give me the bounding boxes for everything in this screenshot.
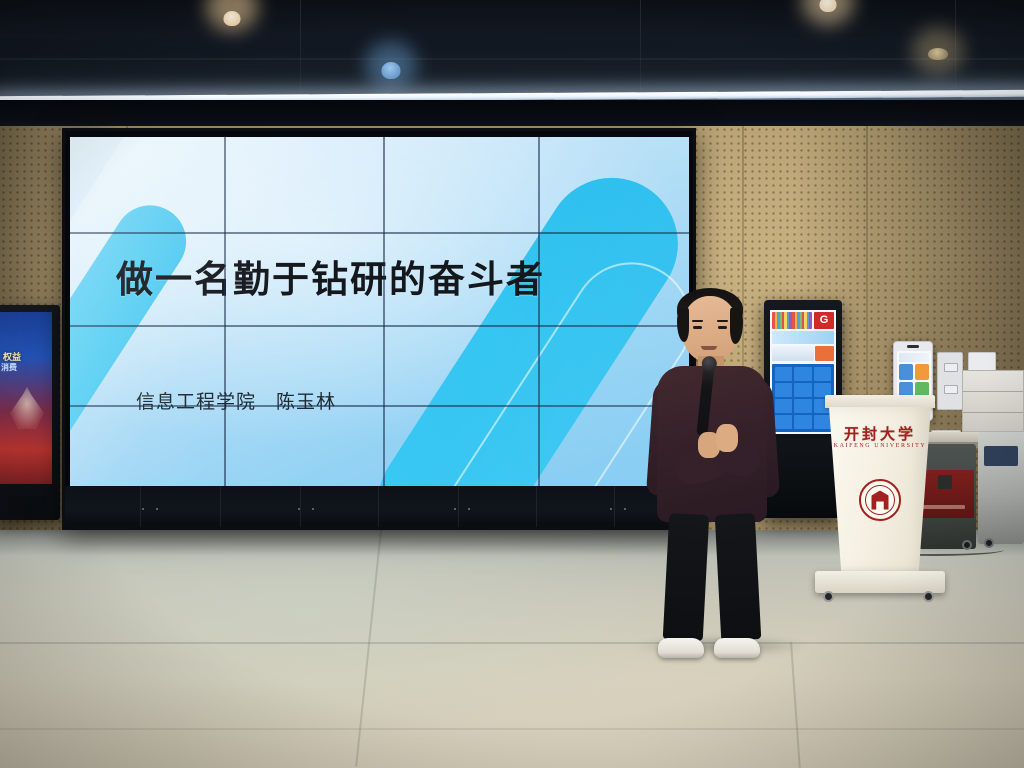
left-digital-poster[interactable]: 权益 消费 bbox=[0, 305, 60, 520]
presenter-eye-left bbox=[693, 326, 702, 329]
tablet-tile-2[interactable] bbox=[915, 364, 929, 380]
lectern[interactable]: 开封大学 KAIFENG UNIVERSITY bbox=[815, 395, 945, 610]
tablet-tile-grid[interactable] bbox=[899, 364, 929, 398]
presenter-mouth bbox=[701, 346, 717, 350]
kiosk-logo: G bbox=[814, 312, 834, 329]
kiosk-button[interactable] bbox=[794, 367, 811, 381]
ceiling bbox=[0, 0, 1024, 96]
cart-caster bbox=[962, 540, 972, 550]
cart-display bbox=[984, 446, 1018, 466]
left-poster-line2: 消费 bbox=[1, 362, 52, 373]
tablet-header-bar bbox=[899, 353, 929, 362]
presenter-hand-right bbox=[716, 424, 738, 452]
lectern-university-name-en: KAIFENG UNIVERSITY bbox=[829, 443, 931, 449]
presenter bbox=[640, 282, 790, 652]
presenter-leg-right bbox=[715, 513, 762, 641]
slide-title: 做一名勤于钻研的奋斗者 bbox=[116, 249, 636, 303]
tablet-camera-icon bbox=[907, 345, 919, 348]
kiosk-button[interactable] bbox=[794, 383, 811, 397]
presenter-brow-right bbox=[717, 320, 728, 322]
presenter-hair-left bbox=[677, 308, 689, 342]
lectern-caster-left bbox=[823, 591, 834, 602]
seal-glyph bbox=[872, 491, 889, 510]
left-poster-base bbox=[8, 496, 46, 518]
kiosk-banner-3[interactable] bbox=[815, 346, 834, 361]
presenter-eye-right bbox=[718, 326, 727, 329]
presenter-leg-left bbox=[663, 513, 710, 641]
lectern-university-name-cn: 开封大学 bbox=[829, 423, 931, 444]
presenter-brow-left bbox=[692, 320, 703, 322]
video-wall[interactable]: 做一名勤于钻研的奋斗者 信息工程学院 陈玉林 bbox=[62, 128, 696, 530]
presentation-room-photo: 权益 消费 做一名勤于钻研的奋斗者 信息工程学院 陈玉林 bbox=[0, 0, 1024, 768]
lectern-front-panel: 开封大学 KAIFENG UNIVERSITY bbox=[829, 407, 931, 572]
equipment-cart-light bbox=[978, 432, 1024, 544]
kiosk-button[interactable] bbox=[794, 399, 811, 413]
kiosk-button[interactable] bbox=[794, 415, 811, 429]
university-seal-icon bbox=[859, 479, 901, 521]
cart-caster bbox=[984, 538, 994, 548]
lectern-caster-right bbox=[923, 591, 934, 602]
presenter-shoe-right bbox=[714, 638, 760, 658]
presenter-shoe-left bbox=[658, 638, 704, 658]
presenter-hair-right bbox=[730, 308, 743, 344]
lectern-top-surface[interactable] bbox=[825, 395, 935, 408]
presenter-legs bbox=[664, 514, 760, 646]
slide-subtitle: 信息工程学院 陈玉林 bbox=[136, 387, 336, 414]
lectern-base bbox=[815, 571, 945, 593]
video-wall-screen[interactable]: 做一名勤于钻研的奋斗者 信息工程学院 陈玉林 bbox=[70, 137, 689, 486]
left-poster-screen[interactable]: 权益 消费 bbox=[0, 312, 52, 484]
video-wall-cabinet bbox=[62, 486, 696, 530]
scales-of-justice-icon bbox=[10, 387, 44, 429]
wall-socket-upper bbox=[968, 352, 996, 372]
kiosk-button[interactable] bbox=[814, 367, 831, 381]
tablet-tile-1[interactable] bbox=[899, 364, 913, 380]
right-shelf-unit bbox=[962, 370, 1024, 432]
